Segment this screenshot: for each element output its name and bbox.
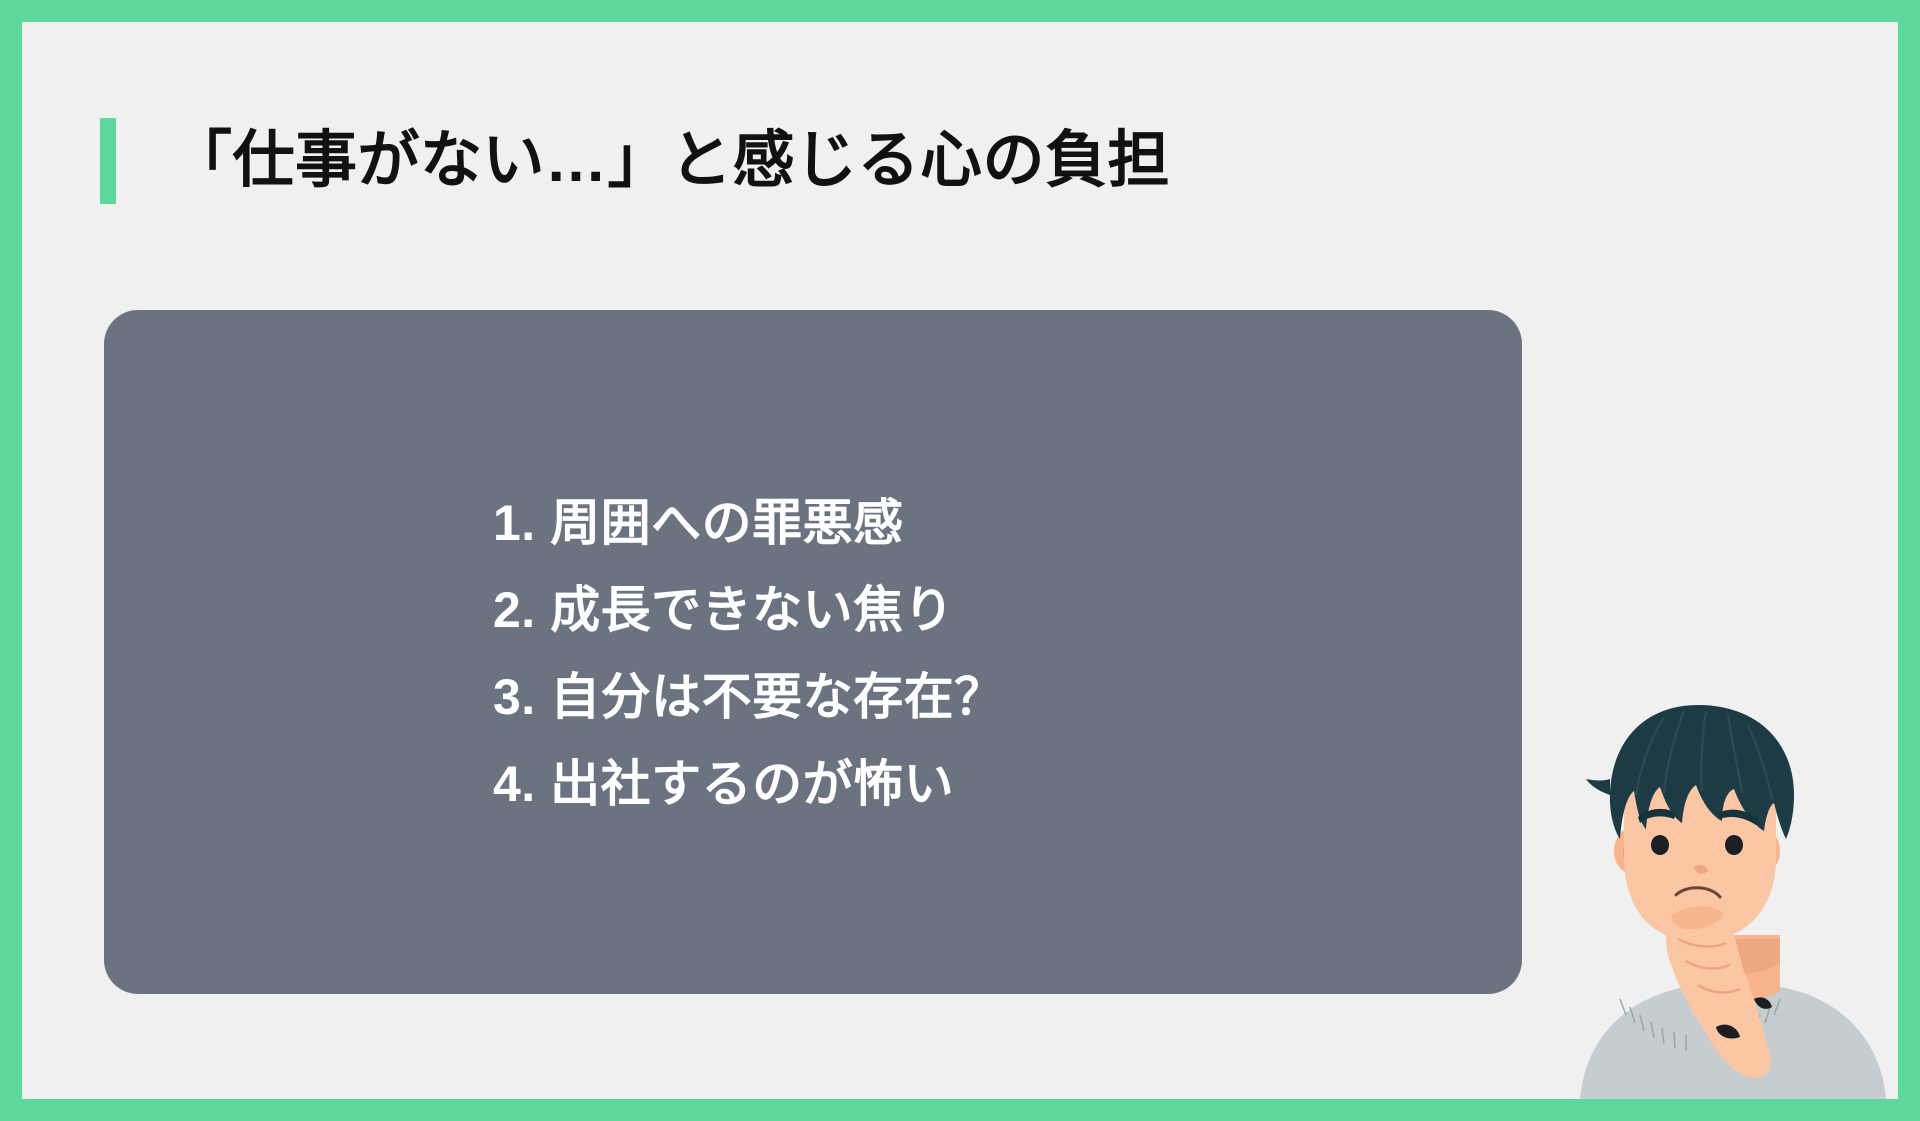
slide-inner-panel: 「仕事がない…」と感じる心の負担 1. 周囲への罪悪感 2. 成長できない焦り … [22,22,1898,1099]
content-card: 1. 周囲への罪悪感 2. 成長できない焦り 3. 自分は不要な存在？ 4. 出… [104,310,1522,994]
title-accent-bar [100,118,116,204]
page-title-row: 「仕事がない…」と感じる心の負担 [100,118,1170,204]
list-item: 1. 周囲への罪悪感 [493,493,1133,554]
list-item: 3. 自分は不要な存在？ [493,667,1133,728]
slide: 「仕事がない…」と感じる心の負担 1. 周囲への罪悪感 2. 成長できない焦り … [0,0,1920,1121]
list-item: 4. 出社するのが怖い [493,754,1133,815]
thinking-man-illustration [1568,699,1898,1099]
burden-list: 1. 周囲への罪悪感 2. 成長できない焦り 3. 自分は不要な存在？ 4. 出… [104,310,1522,994]
list-item: 2. 成長できない焦り [493,580,1133,641]
page-title: 「仕事がない…」と感じる心の負担 [170,130,1170,192]
